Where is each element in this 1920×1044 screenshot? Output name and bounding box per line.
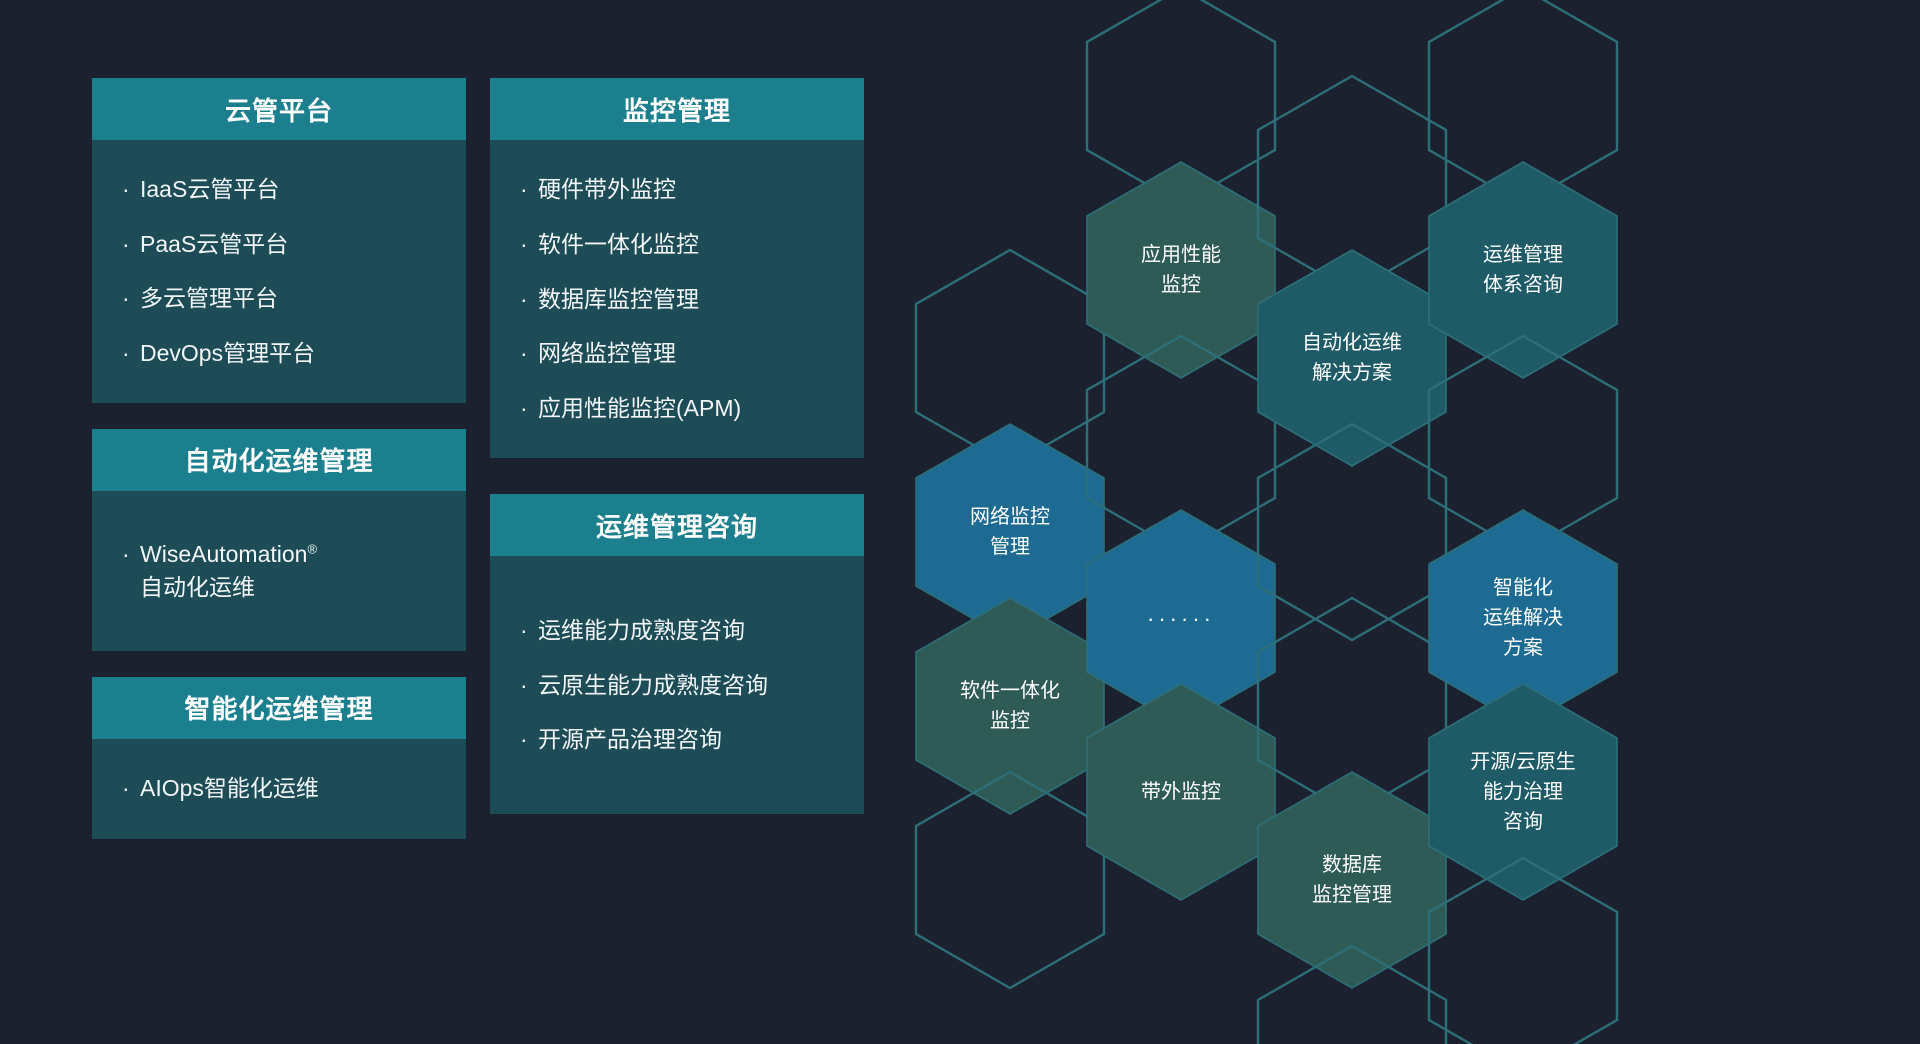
bullet-dot-icon: · <box>122 337 130 370</box>
hexagon-node-empty <box>1423 852 1623 1044</box>
card-list-item-label: AIOps智能化运维 <box>140 772 319 805</box>
card-item-list: ·运维能力成熟度咨询·云原生能力成熟度咨询·开源产品治理咨询 <box>490 556 864 814</box>
bullet-dot-icon: · <box>520 228 528 261</box>
hexagon-shape-icon <box>1252 940 1452 1044</box>
card-list-item: ·DevOps管理平台 <box>92 326 466 381</box>
service-card: 运维管理咨询·运维能力成熟度咨询·云原生能力成熟度咨询·开源产品治理咨询 <box>490 494 864 814</box>
hexagon-node-empty <box>1252 940 1452 1044</box>
card-list-item-label: 运维能力成熟度咨询 <box>538 614 745 647</box>
card-list-item-label: 开源产品治理咨询 <box>538 723 722 756</box>
card-list-item-label: PaaS云管平台 <box>140 228 288 261</box>
card-item-list: ·WiseAutomation®自动化运维 <box>92 491 466 651</box>
bullet-dot-icon: · <box>520 392 528 425</box>
slide-canvas: 云管平台·IaaS云管平台·PaaS云管平台·多云管理平台·DevOps管理平台… <box>0 0 1920 1044</box>
card-list-item: ·数据库监控管理 <box>490 272 864 327</box>
bullet-dot-icon: · <box>122 772 130 805</box>
card-list-item-label: 数据库监控管理 <box>538 283 699 316</box>
card-list-item-label: 软件一体化监控 <box>538 228 699 261</box>
card-list-item-label: 硬件带外监控 <box>538 173 676 206</box>
bullet-dot-icon: · <box>122 228 130 261</box>
card-list-item-label: WiseAutomation®自动化运维 <box>140 538 317 603</box>
bullet-dot-icon: · <box>520 173 528 206</box>
card-title: 智能化运维管理 <box>92 677 466 739</box>
card-list-item: ·网络监控管理 <box>490 326 864 381</box>
card-item-list: ·IaaS云管平台·PaaS云管平台·多云管理平台·DevOps管理平台 <box>92 140 466 403</box>
card-item-list: ·AIOps智能化运维 <box>92 739 466 839</box>
bullet-dot-icon: · <box>122 282 130 315</box>
bullet-dot-icon: · <box>520 669 528 702</box>
card-list-item: ·PaaS云管平台 <box>92 217 466 272</box>
hexagon-shape-icon <box>1423 852 1623 1044</box>
bullet-dot-icon: · <box>122 538 130 571</box>
card-list-item-label: 网络监控管理 <box>538 337 676 370</box>
card-list-item: ·IaaS云管平台 <box>92 162 466 217</box>
hexagon-shape-icon <box>1081 678 1281 906</box>
card-title: 监控管理 <box>490 78 864 140</box>
card-list-item-label: 应用性能监控(APM) <box>538 392 741 425</box>
card-item-list: ·硬件带外监控·软件一体化监控·数据库监控管理·网络监控管理·应用性能监控(AP… <box>490 140 864 458</box>
bullet-dot-icon: · <box>520 283 528 316</box>
hexagon-node-empty <box>910 766 1110 994</box>
card-list-item: ·WiseAutomation®自动化运维 <box>92 527 466 614</box>
bullet-dot-icon: · <box>520 614 528 647</box>
service-card: 自动化运维管理·WiseAutomation®自动化运维 <box>92 429 466 651</box>
card-title: 云管平台 <box>92 78 466 140</box>
card-list-item: ·应用性能监控(APM) <box>490 381 864 436</box>
card-title: 运维管理咨询 <box>490 494 864 556</box>
card-list-item-label: 多云管理平台 <box>140 282 278 315</box>
card-list-item: ·AIOps智能化运维 <box>92 761 466 816</box>
hexagon-node[interactable]: 带外监控 <box>1081 678 1281 906</box>
card-title: 自动化运维管理 <box>92 429 466 491</box>
bullet-dot-icon: · <box>520 337 528 370</box>
card-column-right: 监控管理·硬件带外监控·软件一体化监控·数据库监控管理·网络监控管理·应用性能监… <box>490 78 864 840</box>
card-list-item: ·云原生能力成熟度咨询 <box>490 658 864 713</box>
hexagon-honeycomb: 网络监控管理软件一体化监控应用性能监控······带外监控自动化运维解决方案数据… <box>930 0 1920 1044</box>
card-column-left: 云管平台·IaaS云管平台·PaaS云管平台·多云管理平台·DevOps管理平台… <box>92 78 466 865</box>
card-list-item-label: DevOps管理平台 <box>140 337 315 370</box>
registered-mark-icon: ® <box>307 541 317 556</box>
bullet-dot-icon: · <box>122 173 130 206</box>
card-list-item: ·多云管理平台 <box>92 271 466 326</box>
bullet-dot-icon: · <box>520 723 528 756</box>
card-list-item: ·运维能力成熟度咨询 <box>490 603 864 658</box>
service-card: 监控管理·硬件带外监控·软件一体化监控·数据库监控管理·网络监控管理·应用性能监… <box>490 78 864 458</box>
card-list-item-label: 云原生能力成熟度咨询 <box>538 669 768 702</box>
hexagon-shape-icon <box>910 766 1110 994</box>
card-list-item: ·开源产品治理咨询 <box>490 712 864 767</box>
card-list-item: ·硬件带外监控 <box>490 162 864 217</box>
card-list-item-label: IaaS云管平台 <box>140 173 279 206</box>
service-card: 云管平台·IaaS云管平台·PaaS云管平台·多云管理平台·DevOps管理平台 <box>92 78 466 403</box>
card-list-item: ·软件一体化监控 <box>490 217 864 272</box>
service-card: 智能化运维管理·AIOps智能化运维 <box>92 677 466 839</box>
